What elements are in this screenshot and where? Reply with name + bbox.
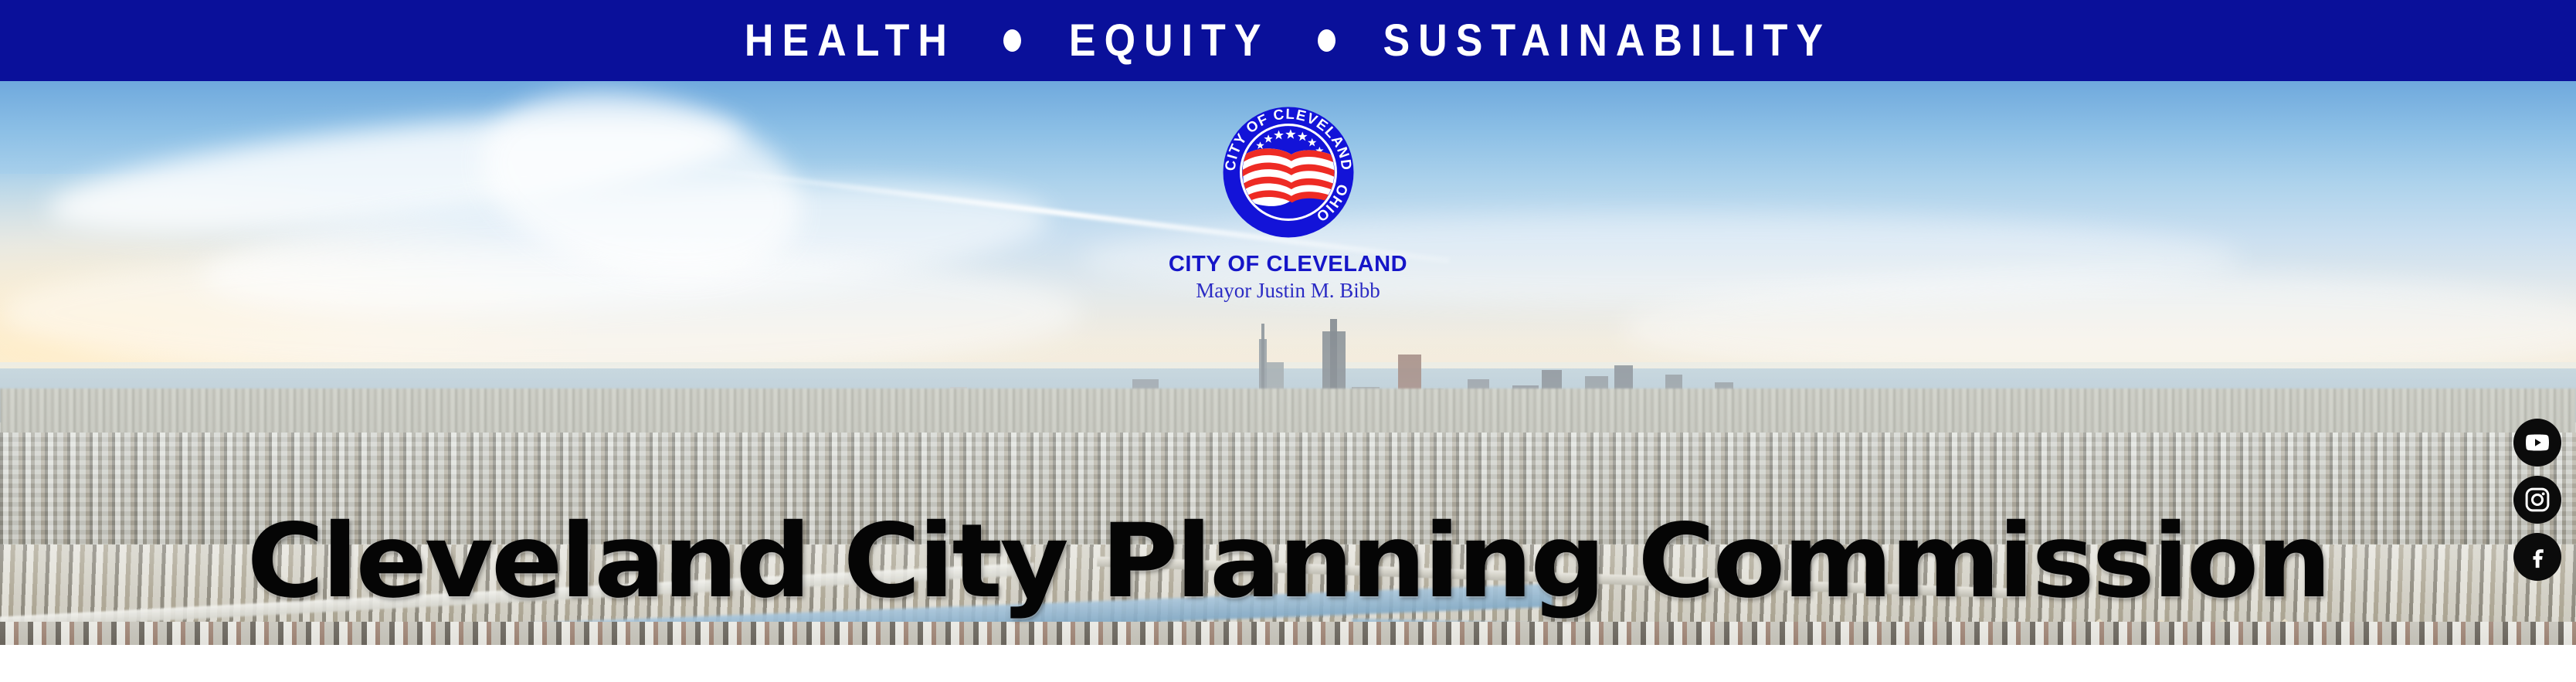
hero-banner-photo: CITY OF CLEVELAND OHIO bbox=[0, 81, 2576, 645]
facebook-button[interactable] bbox=[2513, 533, 2561, 581]
facebook-icon bbox=[2524, 544, 2551, 570]
youtube-button[interactable] bbox=[2513, 419, 2561, 467]
youtube-icon bbox=[2523, 429, 2551, 456]
social-media-rail bbox=[2508, 419, 2567, 581]
tagline-word-health: HEALTH bbox=[745, 18, 955, 63]
foreground-neighborhood bbox=[0, 622, 2576, 645]
city-of-cleveland-seal: CITY OF CLEVELAND OHIO bbox=[1214, 98, 1363, 246]
instagram-button[interactable] bbox=[2513, 476, 2561, 524]
city-seal-block: CITY OF CLEVELAND OHIO bbox=[1072, 98, 1505, 302]
page-root: HEALTH EQUITY SUSTAINABILITY bbox=[0, 0, 2576, 682]
tagline-word-equity: EQUITY bbox=[1069, 18, 1270, 63]
tagline-separator-dot-1 bbox=[1003, 29, 1021, 52]
seal-org-name: CITY OF CLEVELAND bbox=[1072, 253, 1505, 276]
instagram-icon bbox=[2524, 487, 2551, 513]
page-title: Cleveland City Planning Commission bbox=[0, 511, 2576, 612]
tagline-separator-dot-2 bbox=[1318, 29, 1336, 52]
seal-mayor-line: Mayor Justin M. Bibb bbox=[1072, 280, 1505, 301]
tagline-banner: HEALTH EQUITY SUSTAINABILITY bbox=[0, 0, 2576, 81]
tagline-word-sustainability: SUSTAINABILITY bbox=[1383, 18, 1832, 63]
